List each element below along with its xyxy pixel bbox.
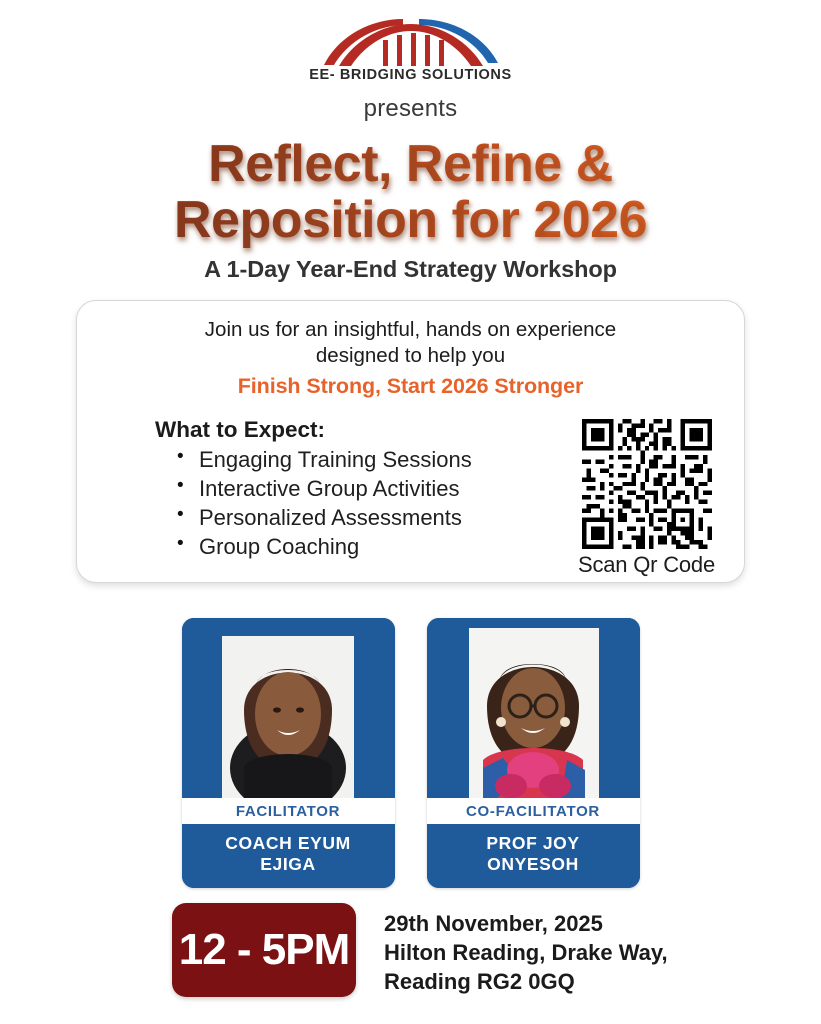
bridge-arch-icon	[311, 18, 511, 70]
details-card: Join us for an insightful, hands on expe…	[76, 300, 745, 583]
brand-header: EE- BRIDGING SOLUTIONS presents	[0, 18, 821, 123]
list-item: Engaging Training Sessions	[177, 445, 535, 474]
facilitator-role: FACILITATOR	[182, 798, 395, 824]
qr-code-icon[interactable]	[582, 419, 712, 549]
hero-title-block: Reflect, Refine & Reposition for 2026 A …	[0, 136, 821, 283]
facilitator-portrait	[182, 618, 395, 798]
list-item: Interactive Group Activities	[177, 474, 535, 503]
title-line-1: Reflect, Refine &	[0, 136, 821, 192]
hero-subtitle: A 1-Day Year-End Strategy Workshop	[0, 256, 821, 283]
intro-line-2: designed to help you	[77, 343, 744, 369]
event-flyer: EE- BRIDGING SOLUTIONS presents Reflect,…	[0, 0, 821, 1024]
list-item: Group Coaching	[177, 532, 535, 561]
venue-details: 29th November, 2025 Hilton Reading, Drak…	[384, 903, 668, 996]
facilitator-name: COACH EYUM EJIGA	[182, 824, 395, 888]
card-body: What to Expect: Engaging Training Sessio…	[77, 401, 744, 578]
facilitators-section: FACILITATOR COACH EYUM EJIGA	[0, 618, 821, 888]
title-line-2: Reposition for 2026	[0, 192, 821, 248]
what-to-expect-list: Engaging Training Sessions Interactive G…	[155, 445, 535, 561]
co-facilitator-card: CO-FACILITATOR PROF JOY ONYESOH	[427, 618, 640, 888]
card-intro: Join us for an insightful, hands on expe…	[77, 301, 744, 401]
brand-name: EE- BRIDGING SOLUTIONS	[0, 67, 821, 83]
what-to-expect-heading: What to Expect:	[155, 417, 535, 443]
co-facilitator-role: CO-FACILITATOR	[427, 798, 640, 824]
co-facilitator-name: PROF JOY ONYESOH	[427, 824, 640, 888]
co-facilitator-portrait	[427, 618, 640, 798]
qr-section: Scan Qr Code	[535, 417, 744, 578]
intro-line-1: Join us for an insightful, hands on expe…	[77, 317, 744, 343]
facilitator-card: FACILITATOR COACH EYUM EJIGA	[182, 618, 395, 888]
qr-caption: Scan Qr Code	[549, 552, 744, 578]
time-badge: 12 - 5PM	[172, 903, 356, 997]
what-to-expect-section: What to Expect: Engaging Training Sessio…	[155, 417, 535, 561]
event-footer: 12 - 5PM 29th November, 2025 Hilton Read…	[172, 903, 668, 997]
list-item: Personalized Assessments	[177, 503, 535, 532]
tagline: Finish Strong, Start 2026 Stronger	[77, 373, 744, 401]
presents-label: presents	[0, 95, 821, 123]
